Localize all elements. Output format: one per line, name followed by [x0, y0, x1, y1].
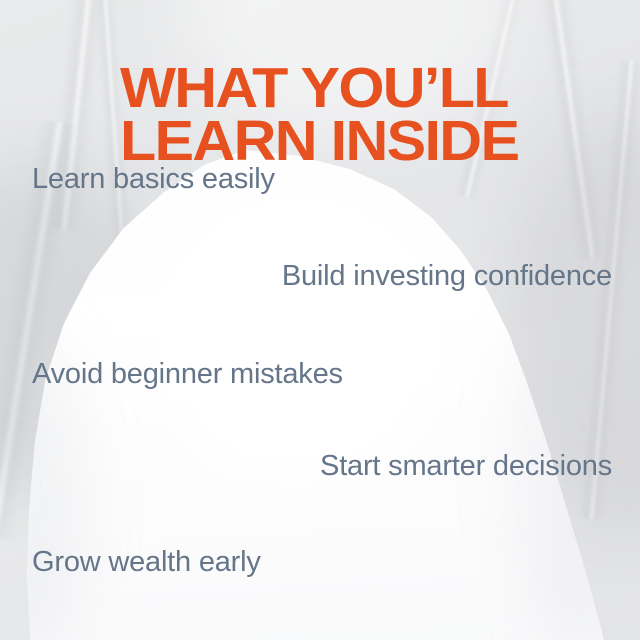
benefit-item-5: Grow wealth early [32, 546, 261, 579]
poster-canvas: WHAT YOU’LL LEARN INSIDE Learn basics ea… [0, 0, 640, 640]
benefit-item-4: Start smarter decisions [320, 450, 612, 483]
benefit-item-2: Build investing confidence [282, 260, 612, 293]
page-title: WHAT YOU’LL LEARN INSIDE [120, 62, 619, 168]
headline-line-2: LEARN INSIDE [120, 115, 619, 168]
benefit-item-1: Learn basics easily [32, 163, 275, 196]
benefit-item-3: Avoid beginner mistakes [32, 358, 343, 391]
headline-line-1: WHAT YOU’LL [120, 62, 619, 115]
